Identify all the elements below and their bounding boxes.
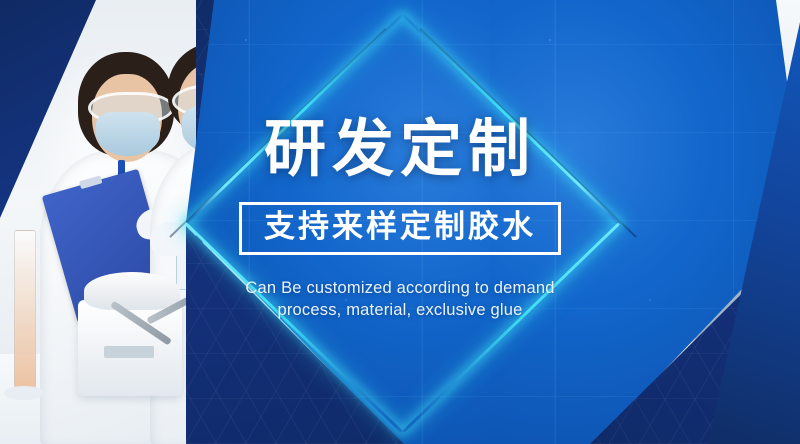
instrument-slot xyxy=(104,346,154,358)
promo-banner: 研发定制 支持来样定制胶水 Can Be customized accordin… xyxy=(0,0,800,444)
banner-headline: 研发定制 xyxy=(264,118,536,180)
tagline-line-1: Can Be customized according to demand xyxy=(245,277,554,299)
banner-subtitle-box: 支持来样定制胶水 xyxy=(239,202,561,255)
glove-mid xyxy=(150,222,192,256)
test-tube-stand xyxy=(4,386,44,400)
banner-tagline: Can Be customized according to demand pr… xyxy=(245,277,554,322)
lamp-head xyxy=(84,272,180,310)
test-tube xyxy=(14,230,36,392)
tagline-line-2: process, material, exclusive glue xyxy=(245,299,554,321)
face-mask-left xyxy=(96,112,160,156)
banner-subtitle: 支持来样定制胶水 xyxy=(264,212,536,243)
